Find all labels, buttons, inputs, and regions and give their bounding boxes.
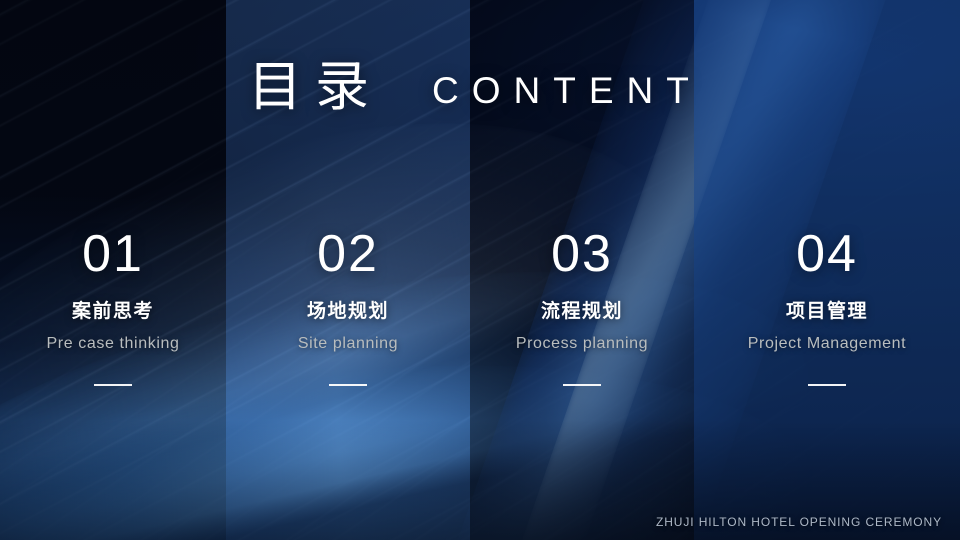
item-number: 01	[0, 228, 226, 280]
item-label-english: Project Management	[694, 336, 960, 352]
slide-title: 目录 CONTENT	[248, 60, 702, 114]
content-items-list: 01 案前思考 Pre case thinking 02 场地规划 Site p…	[0, 228, 960, 386]
item-number: 02	[226, 228, 470, 280]
item-divider-dash	[808, 384, 846, 386]
item-number: 03	[470, 228, 694, 280]
item-label-english: Pre case thinking	[0, 336, 226, 352]
title-chinese: 目录	[248, 60, 382, 114]
item-label-chinese: 场地规划	[226, 302, 470, 321]
item-label-chinese: 案前思考	[0, 302, 226, 321]
item-divider-dash	[563, 384, 601, 386]
slide-footer: ZHUJI HILTON HOTEL OPENING CEREMONY	[656, 516, 942, 528]
content-item-02[interactable]: 02 场地规划 Site planning	[226, 228, 470, 386]
item-label-english: Site planning	[226, 336, 470, 352]
item-number: 04	[694, 228, 960, 280]
content-item-01[interactable]: 01 案前思考 Pre case thinking	[0, 228, 226, 386]
item-label-chinese: 流程规划	[470, 302, 694, 321]
item-label-chinese: 项目管理	[694, 302, 960, 321]
title-english: CONTENT	[432, 66, 702, 109]
presentation-slide: 目录 CONTENT 01 案前思考 Pre case thinking 02 …	[0, 0, 960, 540]
item-divider-dash	[94, 384, 132, 386]
content-item-04[interactable]: 04 项目管理 Project Management	[694, 228, 960, 386]
item-divider-dash	[329, 384, 367, 386]
content-item-03[interactable]: 03 流程规划 Process planning	[470, 228, 694, 386]
item-label-english: Process planning	[470, 336, 694, 352]
